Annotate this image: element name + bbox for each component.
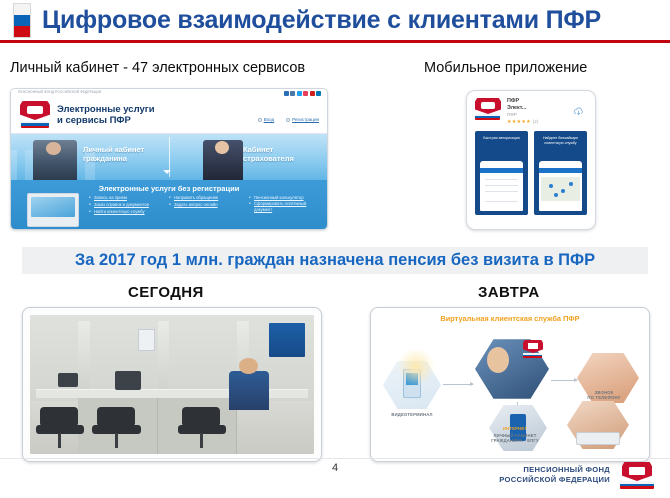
- service-link[interactable]: Сформировать платёжный документ: [249, 201, 321, 213]
- footer-divider: [0, 458, 670, 459]
- banner-label-employer[interactable]: Кабинет страхователя: [243, 145, 294, 163]
- app-name: ПФР Элект...: [507, 98, 526, 112]
- highlight-banner: За 2017 год 1 млн. граждан назначена пен…: [22, 247, 648, 274]
- sun-glow: [397, 348, 435, 386]
- service-link[interactable]: Задать вопрос онлайн: [169, 201, 241, 208]
- services-title: Электронные услуги без регистрации: [11, 184, 327, 193]
- portal-header: Электронные услуги и сервисы ПФР Вход Ре…: [11, 97, 327, 134]
- service-link[interactable]: Заказ справок и документов: [89, 201, 161, 208]
- service-link[interactable]: Пенсионный калькулятор: [249, 194, 321, 201]
- services-columns: Запись на прием Заказ справок и документ…: [89, 194, 321, 215]
- wall-poster: [269, 323, 306, 356]
- label-internet-sub: ЛИЧНЫЙ КАБИНЕТ ГРАЖДАНИНА - ЕПГУ: [469, 433, 561, 444]
- footer-org-name: ПЕНСИОННЫЙ ФОНД РОССИЙСКОЙ ФЕДЕРАЦИИ: [499, 465, 610, 485]
- page-title: Цифровое взаимодействие с клиентами ПФР: [42, 4, 662, 37]
- flow-arrow: [551, 380, 577, 381]
- portal-topbar: ПЕНСИОННЫЙ ФОНД РОССИЙСКОЙ ФЕДЕРАЦИИ: [11, 89, 327, 97]
- phone-mockup: [539, 161, 582, 211]
- wall-notice: [138, 329, 155, 351]
- footer-logo: ПЕНСИОННЫЙ ФОНД РОССИЙСКОЙ ФЕДЕРАЦИИ: [470, 462, 660, 492]
- label-videoterminal: ВИДЕОТЕРМИНАЛ: [379, 412, 445, 417]
- tomorrow-diagram: Виртуальная клиентская служба ПФР ВИДЕОТ…: [370, 307, 650, 462]
- services-column: Пенсионный калькулятор Сформировать плат…: [249, 194, 321, 215]
- diagram-title: Виртуальная клиентская служба ПФР: [371, 314, 649, 323]
- app-developer: ПФР: [507, 112, 517, 117]
- login-link[interactable]: Вход: [258, 117, 274, 122]
- hex-keyboard: [567, 400, 629, 450]
- phone-mockup: [480, 161, 523, 211]
- pfr-logo-icon: [20, 101, 50, 129]
- chevron-down-icon[interactable]: [163, 170, 171, 174]
- portal-auth-links[interactable]: Вход Регистрация: [258, 117, 319, 122]
- app-screenshots: Быстрая авторизация Найдите ближайшую кл…: [475, 131, 587, 215]
- services-column: Запись на прием Заказ справок и документ…: [89, 194, 161, 215]
- label-phone-call: ЗВОНОК ПО ТЕЛЕФОНУ: [571, 390, 637, 401]
- portal-gov-line: ПЕНСИОННЫЙ ФОНД РОССИЙСКОЙ ФЕДЕРАЦИИ: [18, 90, 101, 94]
- flow-arrow: [443, 384, 473, 385]
- service-link[interactable]: Запись на прием: [89, 194, 161, 201]
- portal-brand-line1: Электронные услуги: [57, 104, 155, 115]
- cloud-download-icon[interactable]: [572, 104, 585, 115]
- mobile-caption: Мобильное приложение: [424, 60, 587, 76]
- portal-brand-line2: и сервисы ПФР: [57, 115, 155, 126]
- slide-header: Цифровое взаимодействие с клиентами ПФР: [0, 0, 670, 42]
- pfr-logo-icon: [618, 462, 656, 489]
- laptop-illustration: [27, 193, 79, 227]
- mobile-app-screenshot[interactable]: ПФР Элект... ПФР ★★★★★ (2) Быстрая автор…: [466, 90, 596, 230]
- today-office-photo: [22, 307, 322, 462]
- office-worker: [229, 371, 269, 410]
- register-link[interactable]: Регистрация: [286, 117, 319, 122]
- banner-person-employer: [203, 140, 243, 180]
- portal-services-block: Электронные услуги без регистрации Запис…: [11, 180, 327, 230]
- slide: Цифровое взаимодействие с клиентами ПФР …: [0, 0, 670, 498]
- portal-screenshot[interactable]: ПЕНСИОННЫЙ ФОНД РОССИЙСКОЙ ФЕДЕРАЦИИ Эле…: [10, 88, 328, 230]
- app-listing-header: ПФР Элект... ПФР ★★★★★ (2): [475, 98, 587, 126]
- social-icons[interactable]: [284, 91, 322, 96]
- title-divider: [0, 40, 670, 43]
- app-screenshot-2[interactable]: Найдите ближайшую клиентскую службу: [534, 131, 587, 215]
- photo-content: [30, 315, 314, 454]
- portal-caption: Личный кабинет - 47 электронных сервисов: [10, 60, 305, 76]
- portal-brand: Электронные услуги и сервисы ПФР: [57, 104, 155, 126]
- app-icon: [475, 98, 501, 122]
- app-screenshot-1[interactable]: Быстрая авторизация: [475, 131, 528, 215]
- app-rating-stars: ★★★★★ (2): [507, 119, 539, 125]
- russian-flag-icon: [14, 4, 30, 37]
- today-caption: СЕГОДНЯ: [128, 284, 204, 301]
- banner-label-citizen[interactable]: Личный кабинет гражданина: [83, 145, 144, 163]
- tomorrow-caption: ЗАВТРА: [478, 284, 540, 301]
- portal-banner: Личный кабинет гражданина Кабинет страхо…: [11, 134, 327, 180]
- service-link[interactable]: Найти клиентскую службу: [89, 208, 161, 215]
- banner-person-citizen: [33, 140, 77, 180]
- map-illustration: [541, 177, 580, 201]
- pfr-logo-icon: [523, 340, 543, 359]
- label-internet: ИНТЕРНЕТ: [475, 426, 555, 431]
- service-link[interactable]: Направить обращение: [169, 194, 241, 201]
- highlight-text: За 2017 год 1 млн. граждан назначена пен…: [22, 247, 648, 274]
- services-column: Направить обращение Задать вопрос онлайн: [169, 194, 241, 215]
